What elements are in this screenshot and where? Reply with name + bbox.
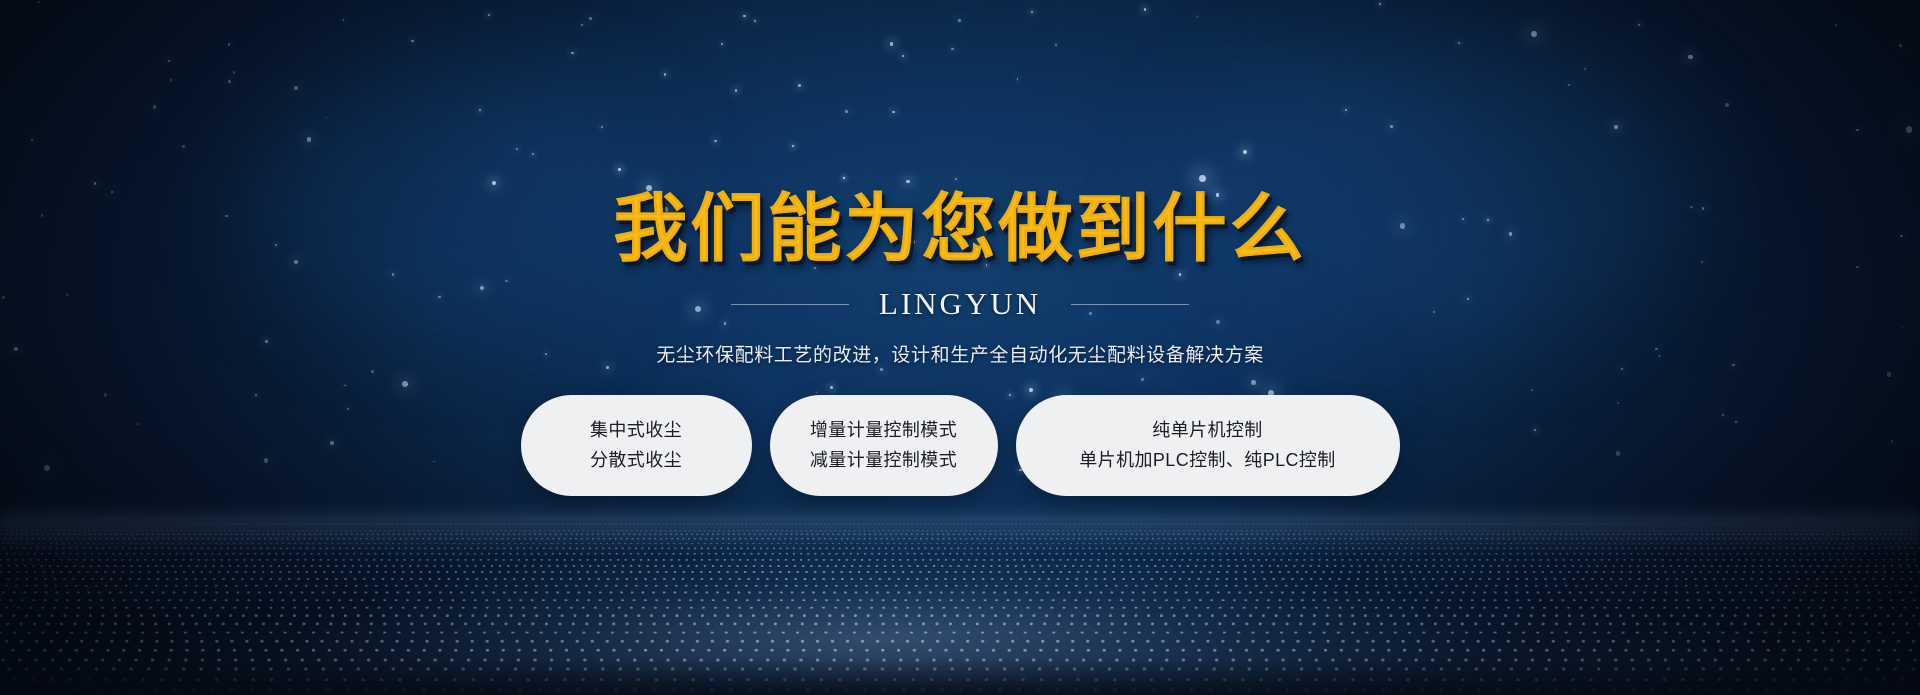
dot-wave-row bbox=[0, 668, 1920, 671]
dot-wave-ground bbox=[0, 480, 1920, 695]
brand-name: LINGYUN bbox=[879, 286, 1041, 322]
dot-wave-row bbox=[0, 631, 1920, 634]
dot-wave-row bbox=[0, 518, 1920, 519]
dot-wave-row bbox=[0, 614, 1920, 617]
pill-line: 纯单片机控制 bbox=[1152, 421, 1262, 439]
dot-wave-row bbox=[0, 538, 1920, 540]
pill-line: 减量计量控制模式 bbox=[810, 451, 957, 469]
dot-wave-row bbox=[0, 534, 1920, 536]
feature-pill[interactable]: 集中式收尘 分散式收尘 bbox=[521, 395, 752, 496]
dot-wave-row bbox=[0, 520, 1920, 521]
ground-bottom-fade bbox=[0, 657, 1920, 695]
dot-wave-row bbox=[0, 523, 1920, 524]
pill-line: 增量计量控制模式 bbox=[810, 421, 957, 439]
divider-line-left bbox=[731, 304, 849, 305]
dot-wave-row bbox=[0, 553, 1920, 555]
pill-line: 集中式收尘 bbox=[590, 421, 682, 439]
dot-wave-row bbox=[0, 584, 1920, 586]
feature-pill[interactable]: 增量计量控制模式 减量计量控制模式 bbox=[770, 395, 998, 496]
pill-line: 分散式收尘 bbox=[590, 451, 682, 469]
dot-wave-row bbox=[0, 543, 1920, 545]
dot-wave-row bbox=[0, 578, 1920, 580]
dot-wave-row bbox=[0, 658, 1920, 661]
hero-banner: 我们能为您做到什么 LINGYUN 无尘环保配料工艺的改进，设计和生产全自动化无… bbox=[0, 0, 1920, 695]
dot-wave-row bbox=[0, 526, 1920, 527]
dot-wave-row bbox=[0, 623, 1920, 626]
dot-wave-row bbox=[0, 571, 1920, 573]
hero-content: 我们能为您做到什么 LINGYUN 无尘环保配料工艺的改进，设计和生产全自动化无… bbox=[0, 0, 1920, 496]
subtitle-tagline: 无尘环保配料工艺的改进，设计和生产全自动化无尘配料设备解决方案 bbox=[0, 340, 1920, 367]
dot-wave-row bbox=[0, 649, 1920, 652]
dot-wave-row bbox=[0, 688, 1920, 691]
ground-haze bbox=[0, 502, 1920, 554]
divider-line-right bbox=[1071, 304, 1189, 305]
brand-row: LINGYUN bbox=[0, 286, 1920, 322]
dot-wave-row bbox=[0, 591, 1920, 593]
dot-wave-row bbox=[0, 599, 1920, 602]
dot-wave-row bbox=[0, 515, 1920, 516]
dot-wave-row bbox=[0, 517, 1920, 518]
dot-wave-row bbox=[0, 559, 1920, 561]
pill-line: 单片机加PLC控制、纯PLC控制 bbox=[1079, 451, 1335, 469]
dot-wave-row bbox=[0, 530, 1920, 532]
dot-wave-row bbox=[0, 565, 1920, 567]
dot-wave-row bbox=[0, 515, 1920, 516]
dot-wave-row bbox=[0, 640, 1920, 643]
dot-wave-row bbox=[0, 548, 1920, 550]
feature-pill-group: 集中式收尘 分散式收尘 增量计量控制模式 减量计量控制模式 纯单片机控制 单片机… bbox=[0, 395, 1920, 496]
page-title: 我们能为您做到什么 bbox=[0, 192, 1920, 266]
ground-glow bbox=[0, 480, 1920, 695]
feature-pill[interactable]: 纯单片机控制 单片机加PLC控制、纯PLC控制 bbox=[1016, 395, 1400, 496]
dot-wave-row bbox=[0, 607, 1920, 610]
dot-wave-row bbox=[0, 678, 1920, 681]
